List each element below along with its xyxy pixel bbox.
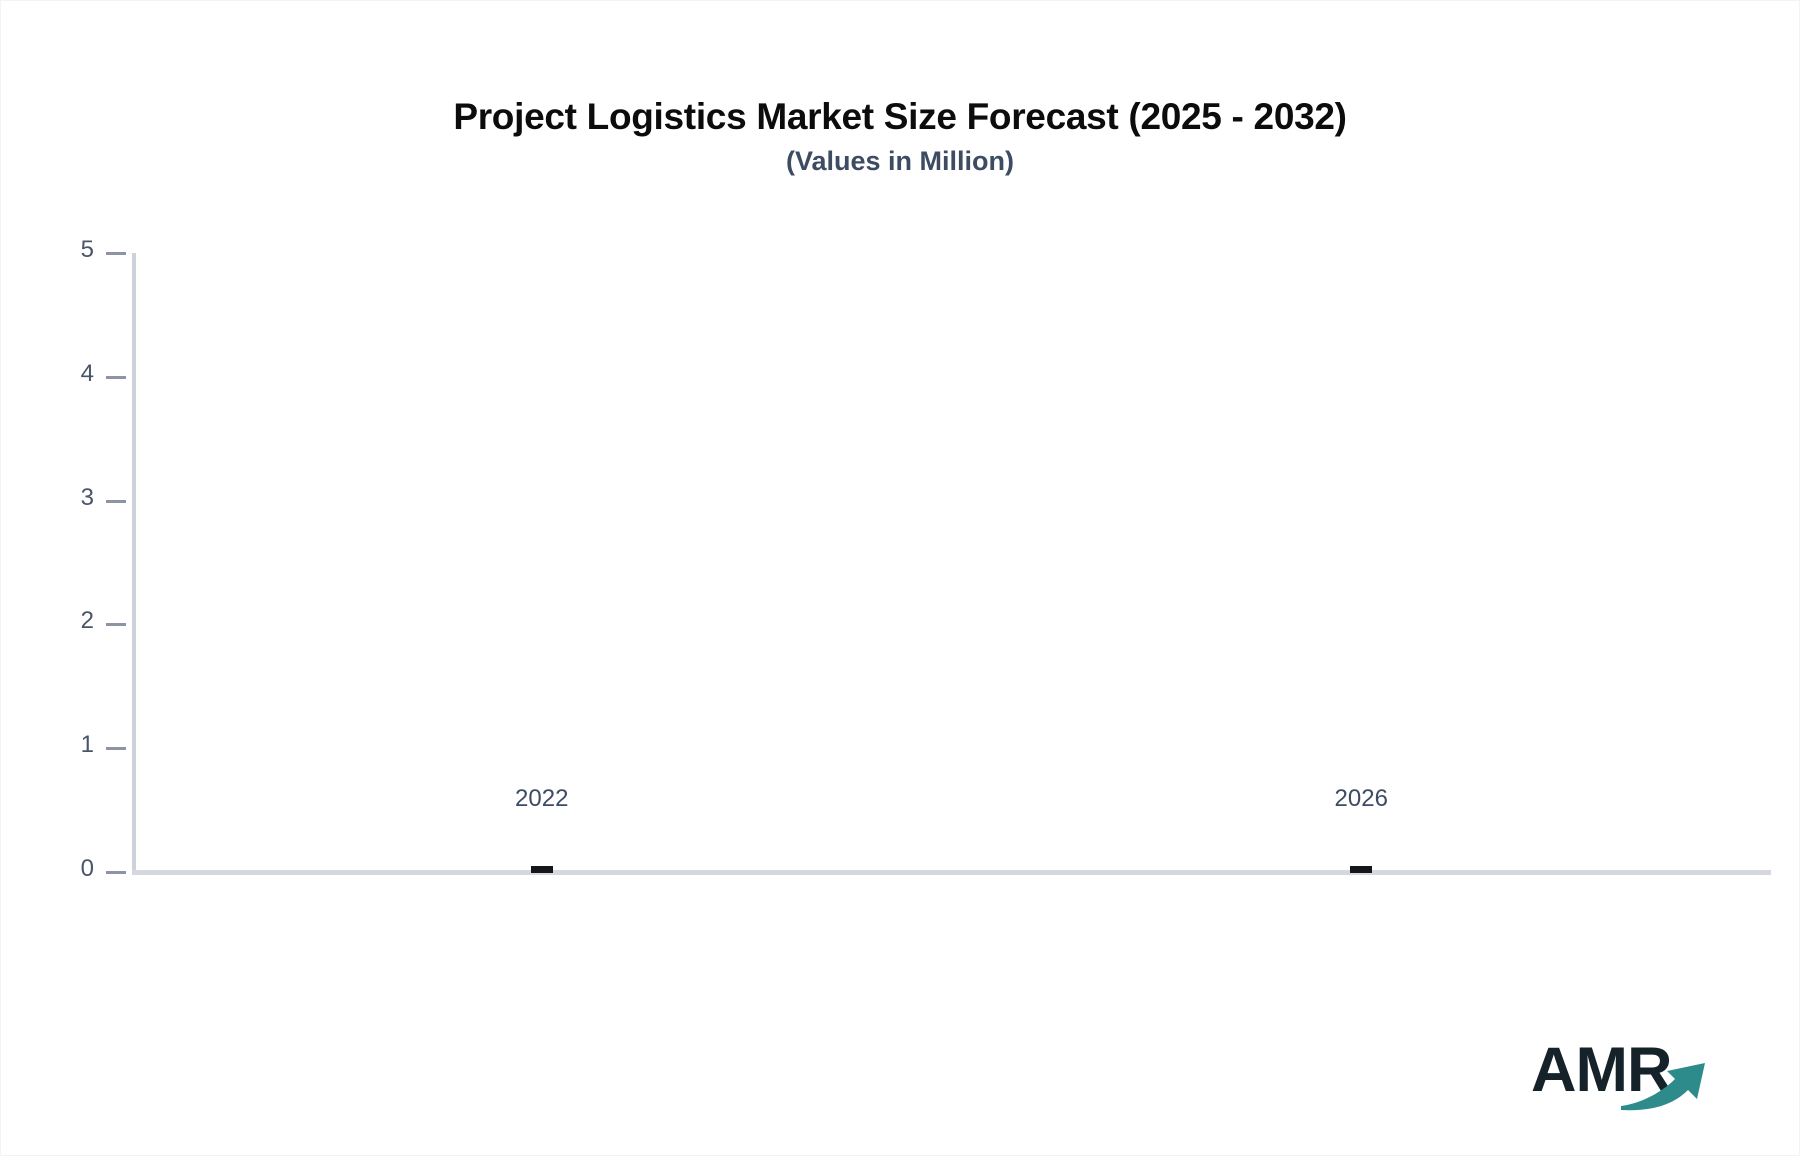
x-axis-tick-label: 2022 <box>515 787 568 811</box>
amr-logo: AMR <box>1531 1031 1721 1131</box>
y-axis-tick-dash <box>106 871 126 874</box>
chart-subtitle: (Values in Million) <box>1 147 1799 177</box>
chart-canvas: Project Logistics Market Size Forecast (… <box>0 0 1800 1156</box>
y-axis-tick-dash <box>106 252 126 255</box>
y-axis-tick-label: 0 <box>81 857 94 881</box>
chart-title: Project Logistics Market Size Forecast (… <box>1 97 1799 138</box>
y-axis-tick-label: 4 <box>81 362 94 386</box>
x-axis-tick-label: 2026 <box>1335 787 1388 811</box>
plot-area <box>132 253 1771 873</box>
y-axis-tick-dash <box>106 623 126 626</box>
y-axis-tick-label: 5 <box>81 238 94 262</box>
y-axis-tick-label: 2 <box>81 609 94 633</box>
bar-data-point[interactable] <box>531 866 553 873</box>
y-axis-tick-label: 3 <box>81 486 94 510</box>
y-axis-tick-dash <box>106 747 126 750</box>
bar-data-point[interactable] <box>1350 866 1372 873</box>
y-axis-tick-label: 1 <box>81 733 94 757</box>
y-axis-tick-dash <box>106 376 126 379</box>
y-axis-tick-dash <box>106 500 126 503</box>
growth-arrow-icon <box>1619 1049 1719 1111</box>
